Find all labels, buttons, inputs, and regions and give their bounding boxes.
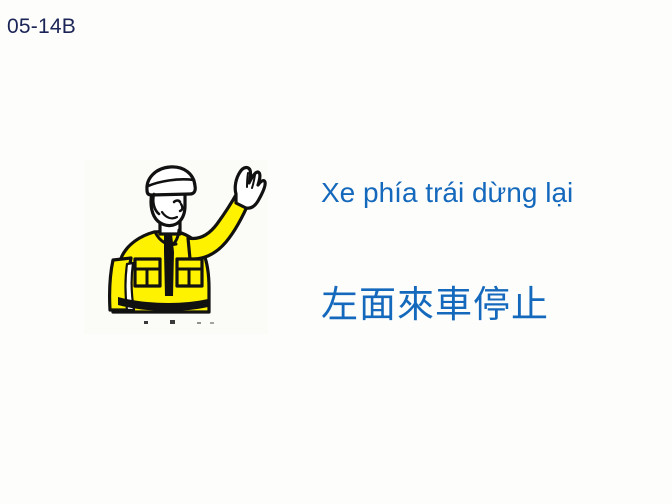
caption-vietnamese: Xe phía trái dừng lại <box>321 176 661 210</box>
traffic-police-officer-illustration <box>84 160 268 334</box>
officer-eye <box>174 201 180 203</box>
officer-figure-svg <box>84 160 268 334</box>
slide-code-label: 05-14B <box>7 16 76 37</box>
caption-block: Xe phía trái dừng lại 左面來車停止 <box>321 176 661 326</box>
officer-chest-pocket-right <box>177 259 202 286</box>
officer-chest-pocket-left <box>135 259 160 286</box>
caption-chinese: 左面來車停止 <box>321 284 661 326</box>
officer-necktie <box>164 234 174 296</box>
